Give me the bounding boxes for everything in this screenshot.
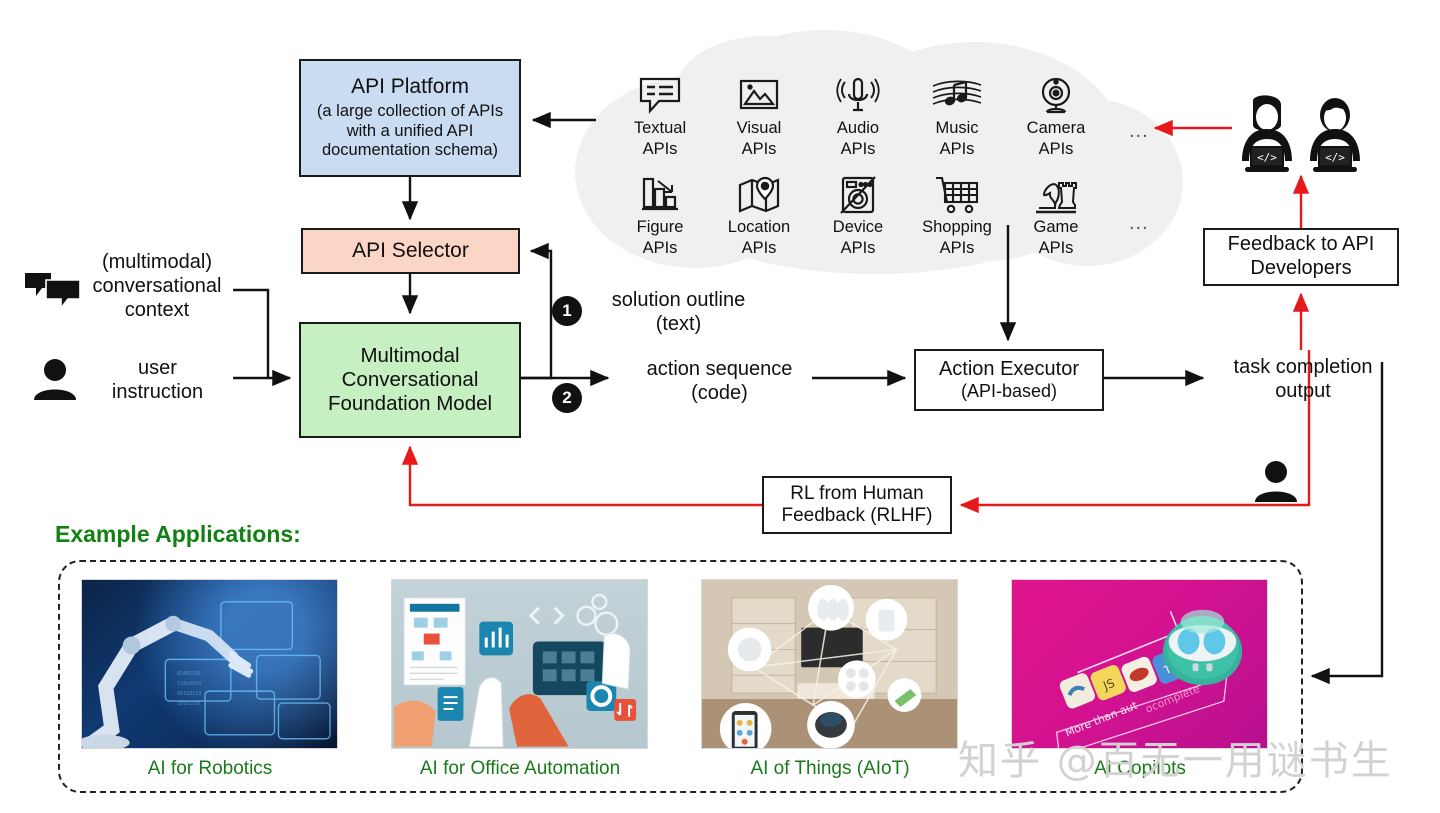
api-label-line1: Audio xyxy=(810,119,906,137)
shopping-api-icon xyxy=(909,171,1005,215)
svg-text:01001101: 01001101 xyxy=(177,671,201,677)
api-category-grid: Textual APIs Visual APIs xyxy=(612,72,1112,252)
user-instruction-label: user instruction xyxy=(85,356,230,404)
male-developer-icon: </> xyxy=(1305,95,1365,175)
thumbnail-ai-for-office-automation[interactable] xyxy=(391,579,648,749)
api-label-line2: APIs xyxy=(612,140,708,158)
thumbnail-ai-for-robotics[interactable]: 0100110111010010 0011011010101101 xyxy=(81,579,338,749)
caption-ai-for-office-automation: AI for Office Automation xyxy=(370,758,670,780)
api-label-line1: Textual xyxy=(612,119,708,137)
api-label-line2: APIs xyxy=(909,140,1005,158)
api-item-shopping[interactable]: Shopping APIs xyxy=(909,171,1005,258)
feedback-to-api-developers-box[interactable]: Feedback to API Developers xyxy=(1203,228,1399,286)
api-item-textual[interactable]: Textual APIs xyxy=(612,72,708,159)
api-item-game[interactable]: Game APIs xyxy=(1008,171,1104,258)
svg-text:</>: </> xyxy=(1257,151,1277,164)
svg-text:10101101: 10101101 xyxy=(177,701,201,707)
user-person-icon xyxy=(33,358,77,400)
api-item-audio[interactable]: Audio APIs xyxy=(810,72,906,159)
music-api-icon xyxy=(909,72,1005,116)
step-badge-2: 2 xyxy=(552,383,582,413)
solution-outline-label: solution outline (text) xyxy=(596,288,761,336)
api-label-line2: APIs xyxy=(711,239,807,257)
api-label-line1: Device xyxy=(810,218,906,236)
svg-text:11010010: 11010010 xyxy=(177,681,201,687)
rlhf-box[interactable]: RL from Human Feedback (RLHF) xyxy=(762,476,952,534)
human-evaluator-icon xyxy=(1254,460,1298,502)
audio-api-icon xyxy=(810,72,906,116)
api-label-line1: Visual xyxy=(711,119,807,137)
visual-api-icon xyxy=(711,72,807,116)
action-executor-box[interactable]: Action Executor (API-based) xyxy=(914,349,1104,411)
api-label-line2: APIs xyxy=(810,239,906,257)
api-platform-line1: (a large collection of APIs xyxy=(317,102,503,121)
api-label-line2: APIs xyxy=(810,140,906,158)
foundation-model-line3: Foundation Model xyxy=(328,392,492,416)
api-label-line1: Music xyxy=(909,119,1005,137)
api-item-visual[interactable]: Visual APIs xyxy=(711,72,807,159)
api-label-line2: APIs xyxy=(711,140,807,158)
figure-api-icon xyxy=(612,171,708,215)
api-item-music[interactable]: Music APIs xyxy=(909,72,1005,159)
zhihu-watermark: 知乎 @百无一用谜书生 xyxy=(958,728,1393,786)
api-label-line1: Shopping xyxy=(909,218,1005,236)
action-executor-subtitle: (API-based) xyxy=(961,381,1057,402)
api-label-line2: APIs xyxy=(1008,140,1104,158)
female-developer-icon: </> xyxy=(1237,95,1297,175)
thumbnail-ai-of-things[interactable] xyxy=(701,579,958,749)
foundation-model-box[interactable]: Multimodal Conversational Foundation Mod… xyxy=(299,322,521,438)
rlhf-line2: Feedback (RLHF) xyxy=(782,505,933,527)
api-platform-box[interactable]: API Platform (a large collection of APIs… xyxy=(299,59,521,177)
rlhf-line1: RL from Human xyxy=(790,483,923,505)
svg-text:00110110: 00110110 xyxy=(177,691,201,697)
svg-text:</>: </> xyxy=(1325,151,1345,164)
api-item-figure[interactable]: Figure APIs xyxy=(612,171,708,258)
api-label-line2: APIs xyxy=(909,239,1005,257)
api-label-line1: Figure xyxy=(612,218,708,236)
caption-ai-of-things: AI of Things (AIoT) xyxy=(680,758,980,780)
api-selector-title: API Selector xyxy=(352,239,469,264)
foundation-model-line2: Conversational xyxy=(342,368,479,392)
api-platform-line2: with a unified API xyxy=(347,122,474,141)
api-item-location[interactable]: Location APIs xyxy=(711,171,807,258)
api-platform-title: API Platform xyxy=(351,75,469,100)
api-label-line1: Game xyxy=(1008,218,1104,236)
camera-api-icon xyxy=(1008,72,1104,116)
feedback-line2: Developers xyxy=(1250,257,1351,281)
game-api-icon xyxy=(1008,171,1104,215)
feedback-line1: Feedback to API xyxy=(1228,233,1375,257)
action-executor-title: Action Executor xyxy=(939,358,1079,382)
api-label-line2: APIs xyxy=(612,239,708,257)
api-label-line1: Location xyxy=(711,218,807,236)
thumbnail-ai-copilots[interactable]: JS TS GO More than aut ocomplete xyxy=(1011,579,1268,749)
api-label-line2: APIs xyxy=(1008,239,1104,257)
example-applications-title: Example Applications: xyxy=(55,521,301,548)
device-api-icon xyxy=(810,171,906,215)
step-badge-1: 1 xyxy=(552,296,582,326)
foundation-model-line1: Multimodal xyxy=(360,344,459,368)
cloud-ellipsis-bottom: ... xyxy=(1129,212,1149,235)
chat-bubbles-icon xyxy=(24,271,82,311)
location-api-icon xyxy=(711,171,807,215)
cloud-ellipsis-top: ... xyxy=(1129,120,1149,143)
caption-ai-for-robotics: AI for Robotics xyxy=(60,758,360,780)
task-completion-output-label: task completion output xyxy=(1205,355,1401,403)
api-platform-line3: documentation schema) xyxy=(322,141,498,160)
diagram-canvas: API Platform (a large collection of APIs… xyxy=(0,0,1440,813)
api-item-device[interactable]: Device APIs xyxy=(810,171,906,258)
action-sequence-label: action sequence (code) xyxy=(632,357,807,405)
api-item-camera[interactable]: Camera APIs xyxy=(1008,72,1104,159)
api-label-line1: Camera xyxy=(1008,119,1104,137)
api-selector-box[interactable]: API Selector xyxy=(301,228,520,274)
conversational-context-label: (multimodal) conversational context xyxy=(77,250,237,322)
textual-api-icon xyxy=(612,72,708,116)
